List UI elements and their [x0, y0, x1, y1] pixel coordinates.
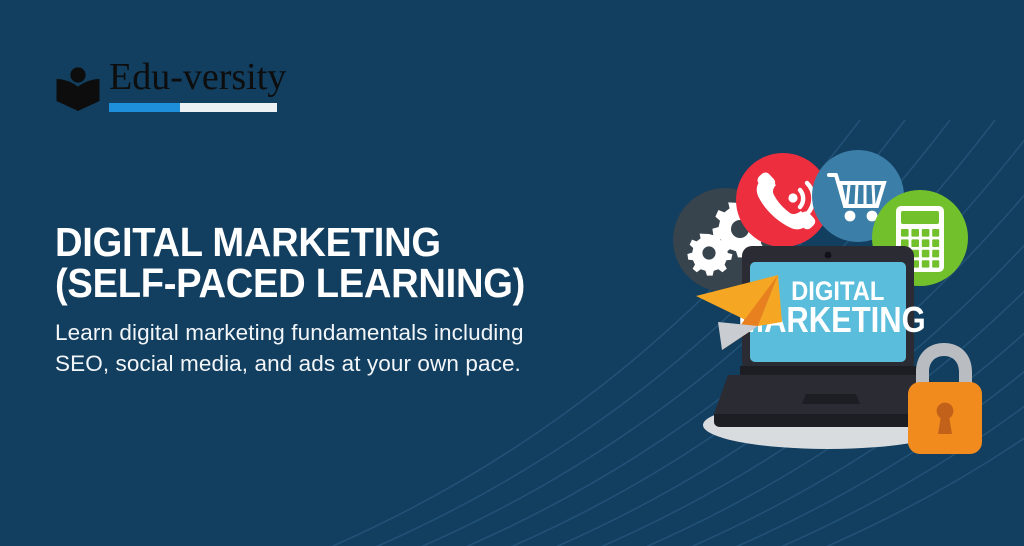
open-book-graduate-icon [55, 66, 101, 114]
logo-wordmark: Edu-versity [109, 57, 286, 97]
webcam-icon [825, 252, 832, 259]
banner-copy: DIGITAL MARKETING (SELF-PACED LEARNING) … [55, 222, 655, 379]
brand-logo[interactable]: Edu-versity [55, 52, 286, 114]
digital-marketing-laptop-illustration: DIGITAL MARKETING [660, 150, 1010, 460]
page-title: DIGITAL MARKETING (SELF-PACED LEARNING) [55, 222, 613, 304]
course-banner: Edu-versity DIGITAL MARKETING (SELF-PACE… [0, 0, 1024, 546]
laptop: DIGITAL MARKETING [714, 246, 942, 427]
logo-underbar [109, 103, 277, 112]
page-subtitle: Learn digital marketing fundamentals inc… [55, 317, 655, 379]
padlock-icon [908, 343, 982, 454]
logo-underbar-fill [109, 103, 180, 112]
